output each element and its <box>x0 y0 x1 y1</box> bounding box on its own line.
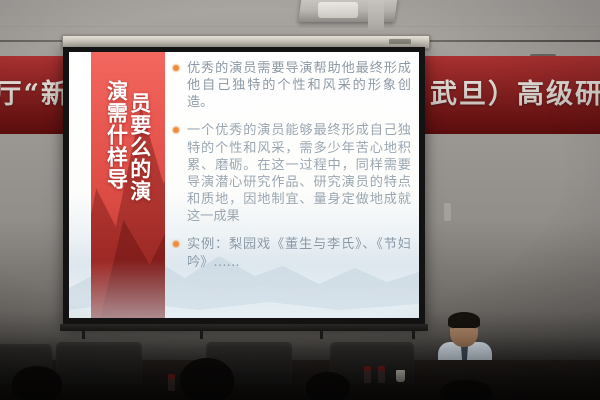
water-bottle <box>364 366 371 383</box>
slide-bullet-text: 优秀的演员需要导演帮助他最终形成他自己独特的个性和风采的形象创造。 <box>187 61 411 110</box>
audience-chair <box>56 342 142 384</box>
glasses-icon <box>452 327 476 334</box>
slide: 演需什样导 员要么的演 优秀的演员需要导演帮助他最终形成他自己独特的个性和风采的… <box>69 52 419 318</box>
screen-hook <box>200 330 203 339</box>
wall-blemish <box>444 203 451 221</box>
bullet-dot-icon <box>173 65 179 71</box>
bullet-dot-icon <box>173 127 179 133</box>
slide-bullet: 优秀的演员需要导演帮助他最终形成他自己独特的个性和风采的形象创造。 <box>173 60 411 111</box>
slide-bullet-text: 一个优秀的演员能够最终形成自己独特的个性和风采，需多少年苦心地积累、磨砺。在这一… <box>187 123 411 224</box>
slide-title-column-2: 员要么的演 <box>129 92 151 202</box>
slide-title: 演需什样导 员要么的演 <box>91 80 165 202</box>
panel-haze <box>91 260 165 318</box>
slide-bullet-text: 实例：梨园戏《董生与李氏》、《节妇吟》…… <box>187 237 411 269</box>
banner-right-text: 武旦）高级研修班 <box>430 72 600 111</box>
paper-cup <box>396 370 405 382</box>
audience-head <box>440 380 492 400</box>
banner-right: 武旦）高级研修班 <box>424 56 600 134</box>
housing-brand-logo <box>389 39 411 44</box>
screenshot-scene: 厅“新 武旦）高级研修班 <box>0 0 600 400</box>
audience-head <box>306 372 350 400</box>
bullet-dot-icon <box>173 241 179 247</box>
speaker-hair <box>448 312 480 328</box>
audience-head <box>180 358 234 400</box>
slide-title-panel: 演需什样导 员要么的演 <box>91 52 165 318</box>
water-bottle <box>378 366 385 383</box>
screen-hook <box>320 330 323 339</box>
slide-body: 优秀的演员需要导演帮助他最终形成他自己独特的个性和风采的形象创造。 一个优秀的演… <box>173 60 411 282</box>
projector-mount <box>368 0 384 30</box>
screen-hook <box>412 330 415 339</box>
slide-bullet: 实例：梨园戏《董生与李氏》、《节妇吟》…… <box>173 236 411 270</box>
screen-weight-bar <box>60 324 428 331</box>
projection-screen: 演需什样导 员要么的演 优秀的演员需要导演帮助他最终形成他自己独特的个性和风采的… <box>63 47 425 325</box>
slide-bullet: 一个优秀的演员能够最终形成自己独特的个性和风采，需多少年苦心地积累、磨砺。在这一… <box>173 122 411 225</box>
wall-seam-upper <box>0 26 600 27</box>
screen-surface: 演需什样导 员要么的演 优秀的演员需要导演帮助他最终形成他自己独特的个性和风采的… <box>69 52 419 318</box>
banner-left-text: 厅“新 <box>0 72 70 111</box>
slide-title-column-1: 演需什样导 <box>105 80 127 202</box>
screen-hook <box>82 330 85 339</box>
audience-head <box>12 366 62 400</box>
water-bottle <box>168 374 175 391</box>
projector-lens-icon <box>318 2 358 18</box>
